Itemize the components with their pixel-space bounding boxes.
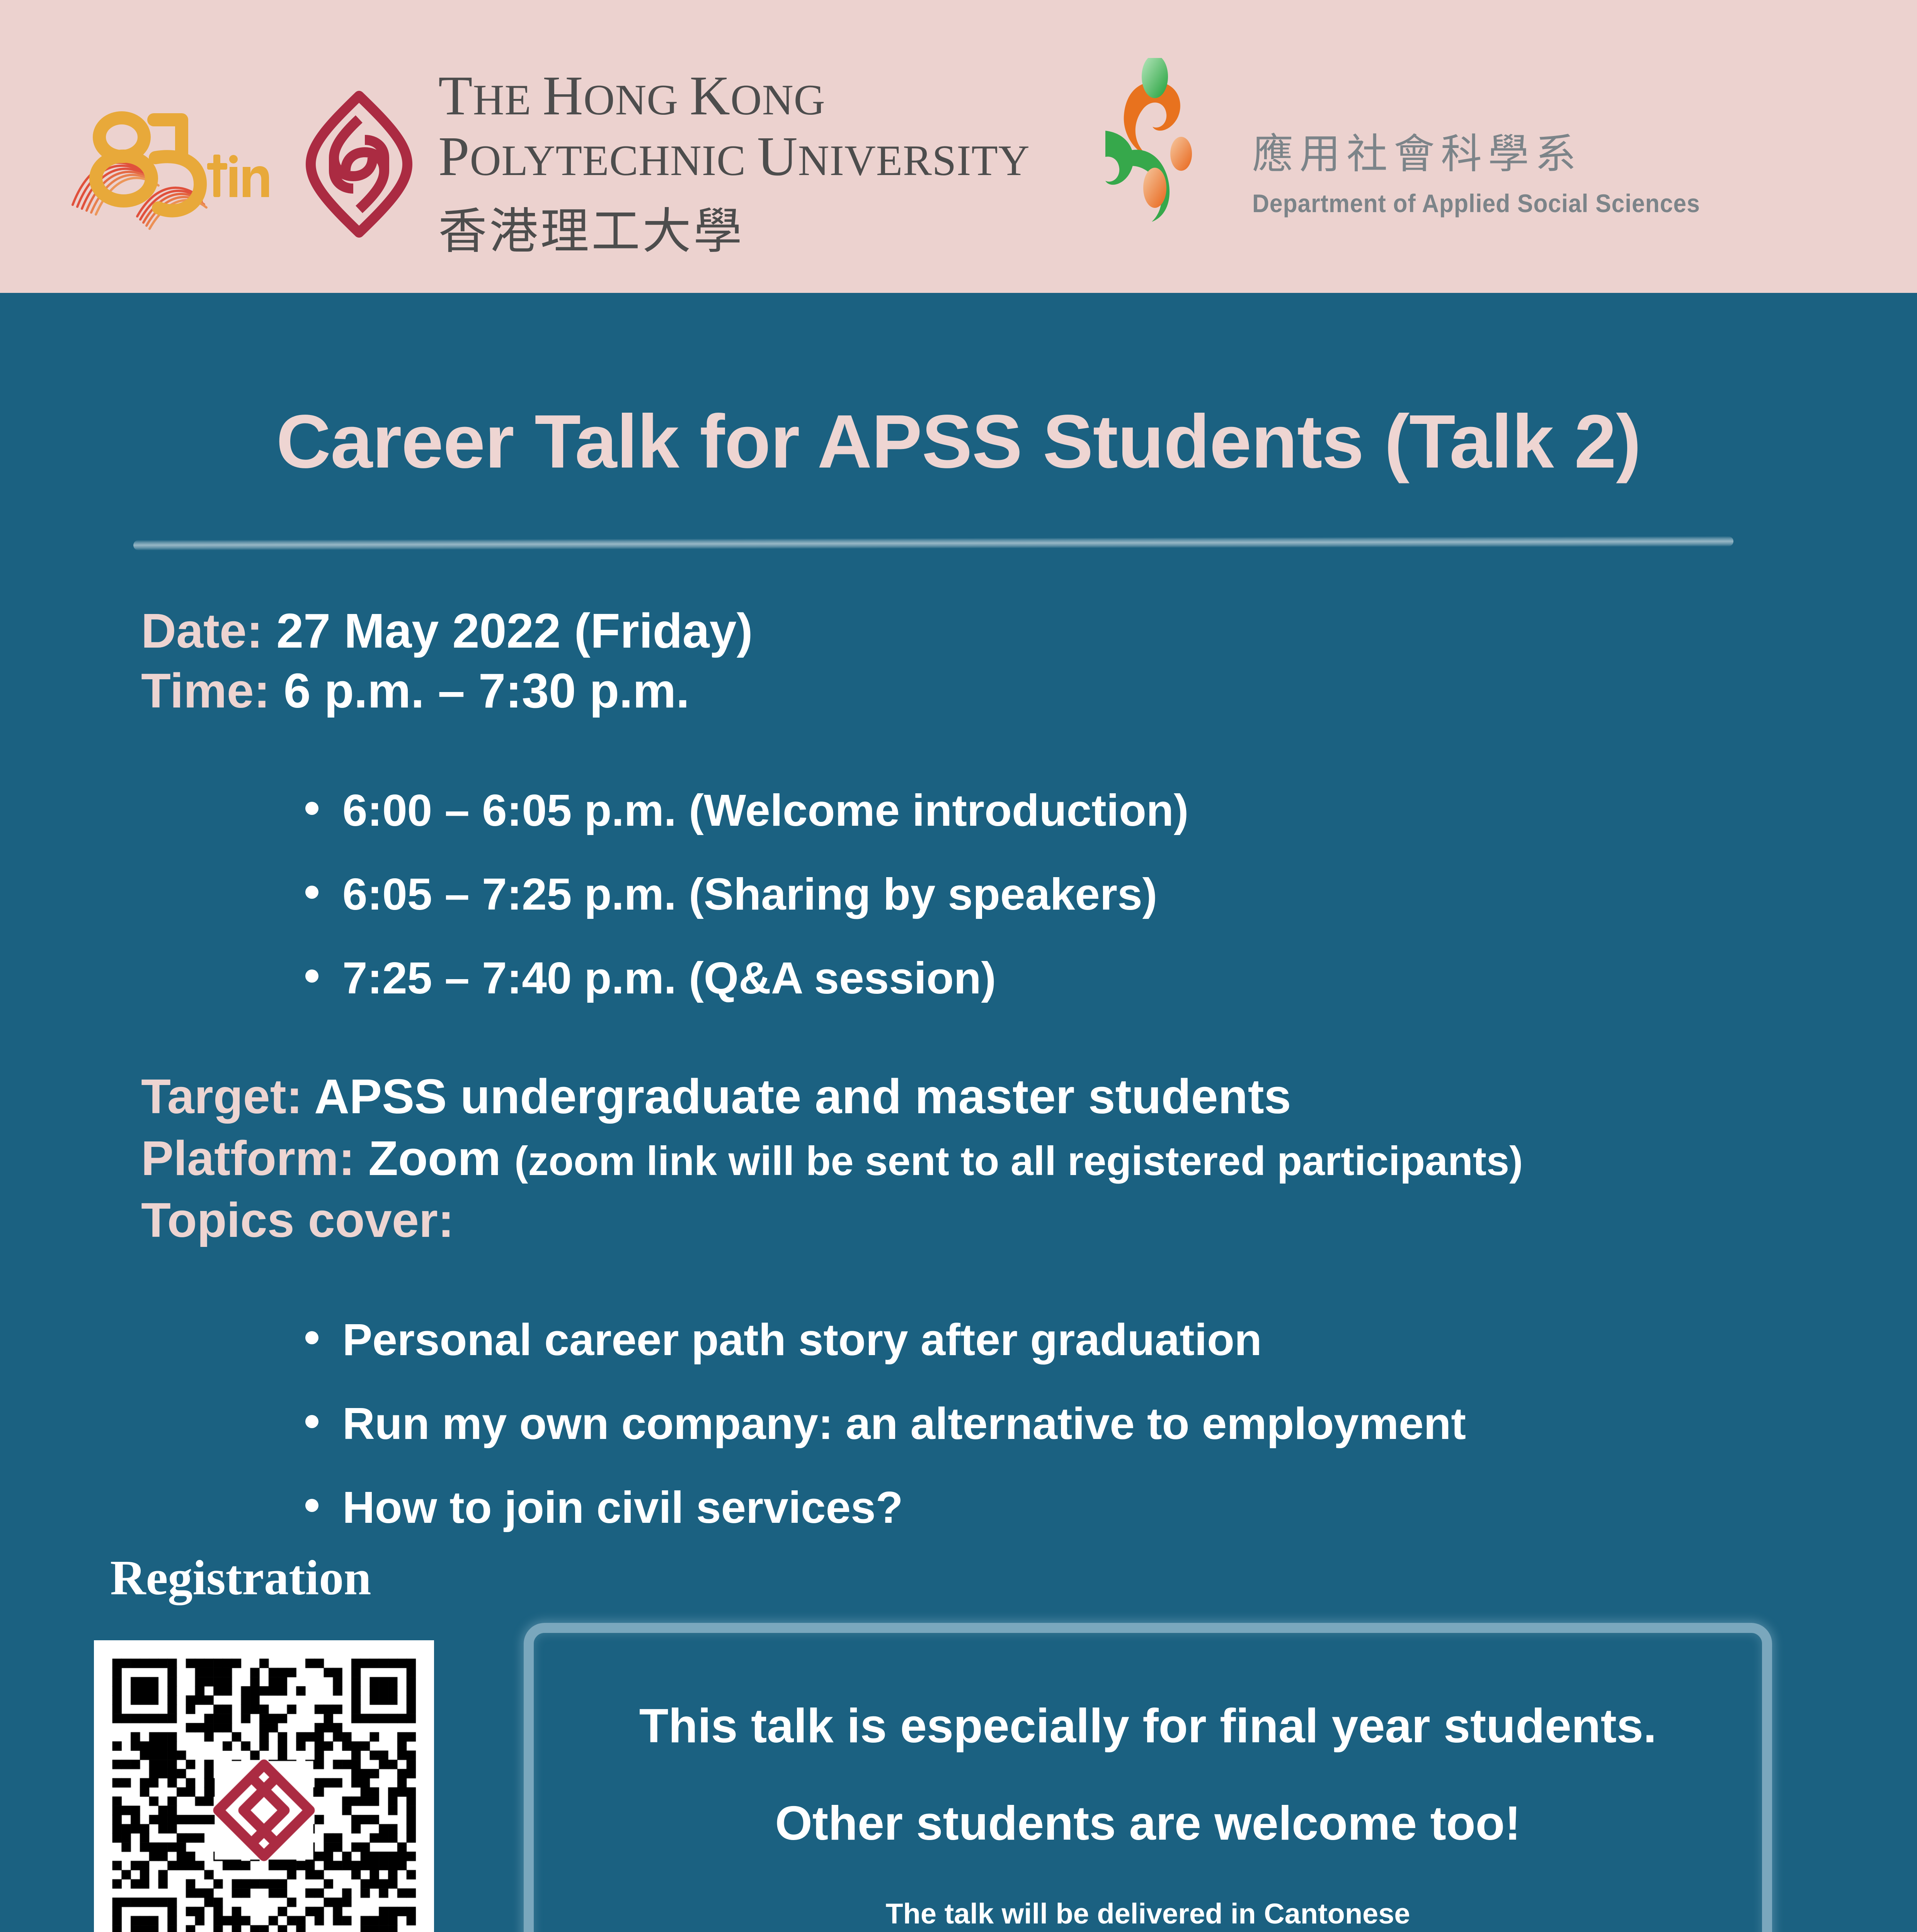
list-item-label: 7:25 – 7:40 p.m. (Q&A session)	[342, 952, 996, 1004]
time-label: Time:	[141, 663, 270, 718]
apss-name-en: Department of Applied Social Sciences	[1252, 189, 1700, 218]
topics-label: Topics cover:	[141, 1192, 454, 1248]
list-item: How to join civil services?	[305, 1481, 1466, 1533]
bullet-dot-icon	[305, 1499, 318, 1512]
detail-date: Date: 27 May 2022 (Friday)	[141, 603, 753, 659]
bullet-dot-icon	[305, 802, 318, 815]
list-item-label: Run my own company: an alternative to em…	[342, 1398, 1466, 1449]
detail-target: Target: APSS undergraduate and master st…	[141, 1068, 1291, 1124]
apss-swoosh-icon	[1105, 58, 1241, 228]
list-item: 6:05 – 7:25 p.m. (Sharing by speakers)	[305, 868, 1188, 920]
list-item-label: 6:00 – 6:05 p.m. (Welcome introduction)	[342, 784, 1188, 836]
polyu-logo-group: THE HONG KONG POLYTECHNIC UNIVERSITY 香港理…	[66, 66, 1030, 262]
bullet-dot-icon	[305, 886, 318, 899]
polyu-wordmark: THE HONG KONG POLYTECHNIC UNIVERSITY 香港理…	[438, 66, 1030, 262]
list-item: Run my own company: an alternative to em…	[305, 1398, 1466, 1449]
polyu-name-zh: 香港理工大學	[438, 192, 1030, 262]
poster-root: THE HONG KONG POLYTECHNIC UNIVERSITY 香港理…	[0, 0, 1917, 1932]
registration-heading: Registration	[110, 1549, 371, 1606]
target-label: Target:	[141, 1069, 303, 1124]
list-item: 6:00 – 6:05 p.m. (Welcome introduction)	[305, 784, 1188, 836]
platform-label: Platform:	[141, 1131, 355, 1185]
callout-line-1: This talk is especially for final year s…	[639, 1699, 1657, 1753]
polyu-name-line1: THE HONG KONG	[438, 66, 1030, 126]
bullet-dot-icon	[305, 1415, 318, 1428]
list-item-label: 6:05 – 7:25 p.m. (Sharing by speakers)	[342, 868, 1157, 920]
bullet-dot-icon	[305, 969, 318, 983]
callout-line-3: The talk will be delivered in Cantonese	[885, 1897, 1410, 1930]
apss-logo-group: 應用社會科學系 Department of Applied Social Sci…	[1105, 58, 1739, 228]
detail-platform: Platform: Zoom (zoom link will be sent t…	[141, 1130, 1523, 1186]
apss-name-zh: 應用社會科學系	[1252, 121, 1739, 180]
bullet-dot-icon	[305, 1331, 318, 1344]
polyu-knot-icon	[295, 89, 423, 240]
header-band: THE HONG KONG POLYTECHNIC UNIVERSITY 香港理…	[0, 0, 1917, 293]
callout-line-2: Other students are welcome too!	[775, 1796, 1520, 1851]
time-value: 6 p.m. – 7:30 p.m.	[284, 663, 690, 718]
date-label: Date:	[141, 604, 263, 658]
target-value: APSS undergraduate and master students	[314, 1069, 1291, 1124]
list-item-label: Personal career path story after graduat…	[342, 1314, 1262, 1366]
polyu-name-line2: POLYTECHNIC UNIVERSITY	[438, 126, 1030, 187]
date-value: 27 May 2022 (Friday)	[276, 604, 753, 658]
topics-list: Personal career path story after graduat…	[305, 1314, 1466, 1565]
polyu-85th-anniversary-icon	[66, 89, 282, 240]
list-item: Personal career path story after graduat…	[305, 1314, 1466, 1366]
registration-qr-code[interactable]	[94, 1640, 434, 1932]
platform-note: (zoom link will be sent to all registere…	[514, 1138, 1523, 1184]
apss-wordmark: 應用社會科學系 Department of Applied Social Sci…	[1252, 121, 1739, 228]
platform-value: Zoom	[368, 1131, 501, 1185]
schedule-list: 6:00 – 6:05 p.m. (Welcome introduction) …	[305, 784, 1188, 1036]
list-item: 7:25 – 7:40 p.m. (Q&A session)	[305, 952, 1188, 1004]
detail-time: Time: 6 p.m. – 7:30 p.m.	[141, 663, 690, 719]
qr-code-icon[interactable]	[94, 1640, 434, 1932]
callout-box: This talk is especially for final year s…	[524, 1623, 1772, 1932]
page-title: Career Talk for APSS Students (Talk 2)	[0, 398, 1917, 485]
list-item-label: How to join civil services?	[342, 1481, 903, 1533]
